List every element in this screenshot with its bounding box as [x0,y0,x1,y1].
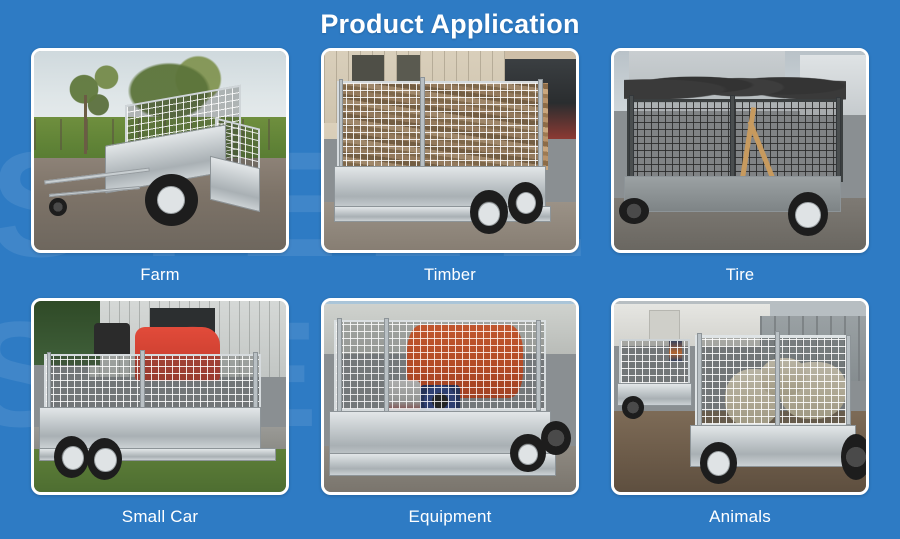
page-title: Product Application [0,0,900,40]
photo-equipment-scene [324,301,576,492]
photo-timber[interactable] [321,48,579,253]
cage-post-right [846,335,851,425]
jockey-wheel [49,198,67,216]
cage-post-left [629,95,634,187]
photo-timber-scene [324,51,576,250]
background-trailer-wheel [622,396,645,419]
cage-post-mid [140,350,145,413]
cage-post-left [47,352,51,413]
photo-equipment[interactable] [321,298,579,495]
wheel-hub-rear [516,192,536,214]
cage-mesh [44,354,261,411]
photo-tire-scene [614,51,866,250]
caption-timber: Timber [321,253,579,298]
cage-post-right [536,320,541,412]
application-card-tire[interactable]: Tire [611,48,869,298]
wheel-hub [795,202,820,228]
caption-equipment: Equipment [321,495,579,539]
product-application-grid: Farm [0,40,900,539]
caption-farm: Farm [31,253,289,298]
application-card-equipment[interactable]: Equipment [321,298,579,539]
background-cage-mesh [619,339,690,385]
cage-post-left [697,333,702,429]
cage-post-left [337,318,342,414]
application-card-farm[interactable]: Farm [31,48,289,298]
application-card-timber[interactable]: Timber [321,48,579,298]
photo-animals-scene [614,301,866,492]
photo-small-car-scene [34,301,286,492]
photo-farm[interactable] [31,48,289,253]
caption-animals: Animals [611,495,869,539]
application-card-small-car[interactable]: Small Car [31,298,289,539]
cage-mesh [337,81,544,171]
application-card-animals[interactable]: Animals [611,298,869,539]
photo-animals[interactable] [611,298,869,495]
cage-post-right [538,79,543,169]
cage-post-left [339,79,343,173]
cage-post-mid [420,77,425,173]
caption-small-car: Small Car [31,495,289,539]
cage-post-mid [730,95,735,187]
trailer-wheel-front [541,421,571,455]
tree-trunk [84,95,87,155]
towing-vehicle-wheel [841,434,866,480]
cage-post-mid [384,318,389,414]
wheel-hub [707,451,730,476]
shed-door [649,310,679,341]
photo-small-car[interactable] [31,298,289,495]
cage-mesh [627,99,844,183]
wheel-hub-rear [518,444,538,465]
cage-mesh [334,320,546,412]
photo-tire[interactable] [611,48,869,253]
cage-mesh [695,335,851,427]
cage-post-mid [775,331,780,428]
photo-farm-scene [34,51,286,250]
caption-tire: Tire [611,253,869,298]
cage-post-right [253,352,258,411]
cage-post-right [836,97,841,185]
mower-seat [94,323,129,354]
